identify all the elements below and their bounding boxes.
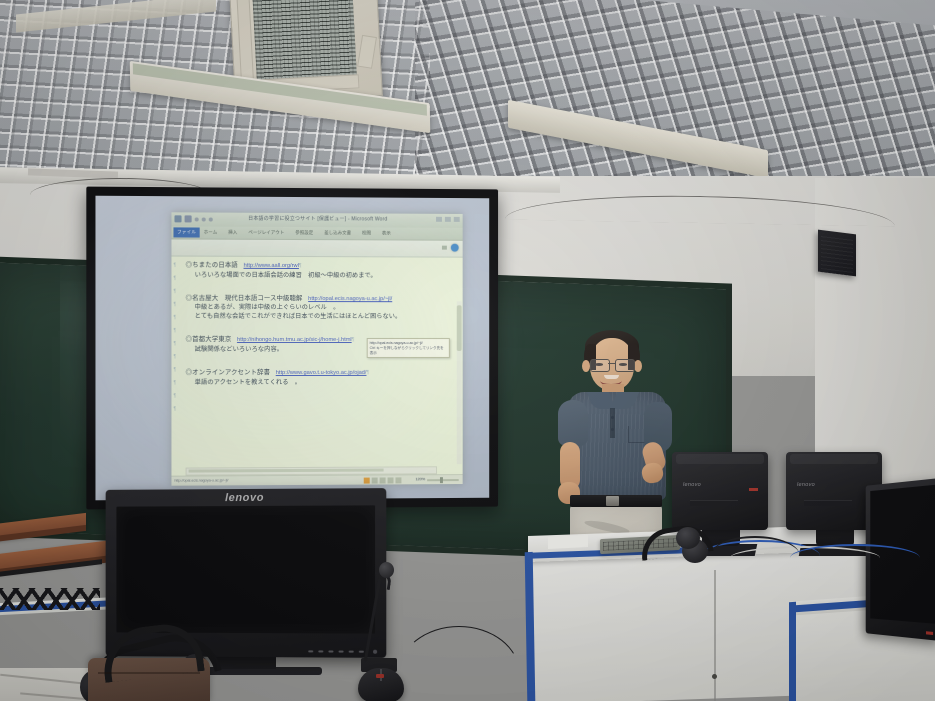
draft-view-icon[interactable]	[395, 477, 401, 483]
headphone-earcup	[676, 527, 700, 549]
monitor-rear-shell: lenovo	[672, 452, 768, 530]
lenovo-logo-icon: lenovo	[797, 482, 815, 488]
paper-sheet	[548, 535, 588, 549]
monitor-vent	[676, 454, 764, 464]
doc-block-1: ◎ちまたの日本語 http://www.aall.org/rwl¶ いろいろな場…	[186, 263, 443, 280]
microphone-neck	[364, 578, 382, 661]
zoom-level: 120%	[416, 477, 426, 481]
tab-insert[interactable]: 挿入	[228, 228, 237, 238]
glasses-bridge	[608, 363, 616, 364]
word-window[interactable]: 日本語の学習に役立つサイト [保護ビュー] - Microsoft Word フ…	[171, 212, 462, 485]
shirt-placket	[610, 408, 615, 438]
collapse-ribbon-icon[interactable]	[442, 246, 447, 250]
lenovo-logo-icon: lenovo	[683, 482, 701, 488]
doc-detail-2: 中級とあるが、実際は中級の上ぐらいのレベル 。	[195, 302, 443, 311]
status-bar-text: http://opal.ecis.nagoya-u.ac.jp/~jl/	[174, 478, 228, 482]
shirt-button-2	[611, 428, 614, 431]
monitor-slot	[804, 500, 852, 506]
doc-block-4: ◎オンラインアクセント辞書 http://www.gavo.t.u-tokyo.…	[186, 370, 443, 386]
doc-link-3[interactable]: http://nihongo.hum.tmu.ac.jp/sic-j/home-…	[237, 337, 352, 343]
desk-right-blue-side	[789, 602, 796, 701]
trackpoint-icon[interactable]	[376, 674, 384, 678]
projection-surface: 日本語の学習に役立つサイト [保護ビュー] - Microsoft Word フ…	[95, 196, 489, 501]
help-icon[interactable]	[451, 244, 459, 252]
monitor-slot	[690, 500, 738, 506]
doc-link-2[interactable]: http://opal.ecis.nagoya-u.ac.jp/~jl/	[308, 296, 392, 302]
tooltip-hint: Ctrl キーを押しながらクリックしてリンク先を表示	[370, 346, 444, 355]
word-document-title: 日本語の学習に役立つサイト [保護ビュー] - Microsoft Word	[171, 214, 462, 223]
scroll-thumb[interactable]	[457, 305, 462, 351]
glasses	[588, 359, 636, 371]
doc-heading-4-text: ◎オンラインアクセント辞書	[186, 369, 270, 376]
outline-view-icon[interactable]	[388, 477, 394, 483]
classroom-photo: 日本語の学習に役立つサイト [保護ビュー] - Microsoft Word フ…	[0, 0, 935, 701]
window-controls[interactable]	[436, 217, 460, 222]
ac-grille	[253, 0, 357, 82]
restore-icon[interactable]	[445, 217, 451, 222]
projection-screen: 日本語の学習に役立つサイト [保護ビュー] - Microsoft Word フ…	[86, 187, 498, 510]
shirt-button-1	[611, 416, 614, 419]
tab-review[interactable]: 校閲	[362, 228, 371, 238]
bag-seam	[98, 672, 200, 674]
ribbon-tab-list[interactable]: ホーム 挿入 ページレイアウト 参照設定 差し込み文書 校閲 表示	[204, 228, 391, 239]
tab-home[interactable]: ホーム	[204, 228, 217, 238]
word-document-page[interactable]: ¶¶¶¶¶¶¶¶¶¶¶¶ ◎ちまたの日本語 http://www.aall.or…	[171, 257, 462, 486]
ac-vane-right	[357, 35, 377, 69]
tab-view[interactable]: 表示	[382, 228, 391, 238]
doc-detail-4: 単語のアクセントを教えてくれる 。	[195, 377, 443, 386]
headphones-desk-right	[676, 523, 714, 549]
lenovo-red-accent	[749, 488, 758, 491]
hscroll-thumb[interactable]	[189, 469, 384, 473]
belt-buckle	[606, 496, 619, 506]
lenovo-logo-icon: lenovo	[225, 492, 264, 504]
doc-detail-1: いろいろな場面での日本語会話の練習 初級～中級の初めまで。	[195, 269, 443, 279]
doc-heading-3-text: ◎首都大学東京	[186, 336, 232, 343]
close-icon[interactable]	[454, 217, 460, 222]
lens-left	[590, 359, 610, 372]
zoom-slider-handle[interactable]	[440, 477, 443, 483]
doc-link-4[interactable]: http://www.gavo.t.u-tokyo.ac.jp/ojad/	[276, 370, 367, 376]
tab-file[interactable]: ファイル	[173, 227, 199, 237]
full-screen-view-icon[interactable]	[372, 478, 378, 484]
paragraph-marks: ¶¶¶¶¶¶¶¶¶¶¶¶	[173, 263, 179, 478]
tab-page-layout[interactable]: ページレイアウト	[248, 228, 284, 238]
ac-vane-left	[237, 0, 254, 82]
desk-screw-hole	[712, 674, 717, 679]
shoulder-bag	[88, 658, 210, 701]
monitor-screen[interactable]	[116, 505, 375, 633]
chair-frame	[0, 566, 106, 616]
doc-heading-2-text: ◎名古屋大 現代日本語コース中級聴解	[186, 294, 303, 301]
minimize-icon[interactable]	[436, 217, 442, 222]
doc-link-1[interactable]: http://www.aall.org/rwl	[244, 263, 299, 269]
word-status-bar: http://opal.ecis.nagoya-u.ac.jp/~jl/ 120…	[171, 474, 462, 486]
microphone-capsule	[379, 562, 394, 578]
desk-panel-seam	[714, 570, 716, 701]
tab-mailings[interactable]: 差し込み文書	[324, 228, 351, 238]
desk-cables	[700, 534, 930, 570]
word-ribbon-tabs[interactable]: ファイル ホーム 挿入 ページレイアウト 参照設定 差し込み文書 校閲 表示	[171, 226, 462, 240]
web-layout-view-icon[interactable]	[380, 477, 386, 483]
hyperlink-tooltip: http://opal.ecis.nagoya-u.ac.jp/~jl/ Ctr…	[367, 338, 450, 358]
monitor-vent	[790, 454, 878, 464]
lens-right	[615, 359, 635, 372]
view-buttons[interactable]	[364, 477, 402, 483]
word-title-bar: 日本語の学習に役立つサイト [保護ビュー] - Microsoft Word	[171, 212, 462, 228]
computer-mouse[interactable]	[358, 668, 404, 701]
tab-references[interactable]: 参照設定	[295, 228, 313, 238]
print-layout-view-icon[interactable]	[364, 478, 370, 484]
document-body: ◎ちまたの日本語 http://www.aall.org/rwl¶ いろいろな場…	[186, 263, 443, 476]
mouse-cable	[398, 626, 520, 674]
doc-block-2: ◎名古屋大 現代日本語コース中級聴解 http://opal.ecis.nago…	[186, 295, 443, 320]
lenovo-red-accent	[926, 631, 933, 635]
sleeve-left	[558, 400, 588, 446]
vertical-scrollbar[interactable]	[457, 301, 462, 464]
ribbon-body	[171, 239, 462, 257]
wall-speaker	[818, 230, 856, 277]
chair-lattice	[0, 588, 100, 610]
zoom-slider[interactable]	[427, 479, 459, 481]
doc-detail-2b: とても自然な会話でこれができれば日本での生活にはほとんど困らない。	[195, 311, 443, 320]
doc-heading-1-text: ◎ちまたの日本語	[186, 262, 238, 269]
